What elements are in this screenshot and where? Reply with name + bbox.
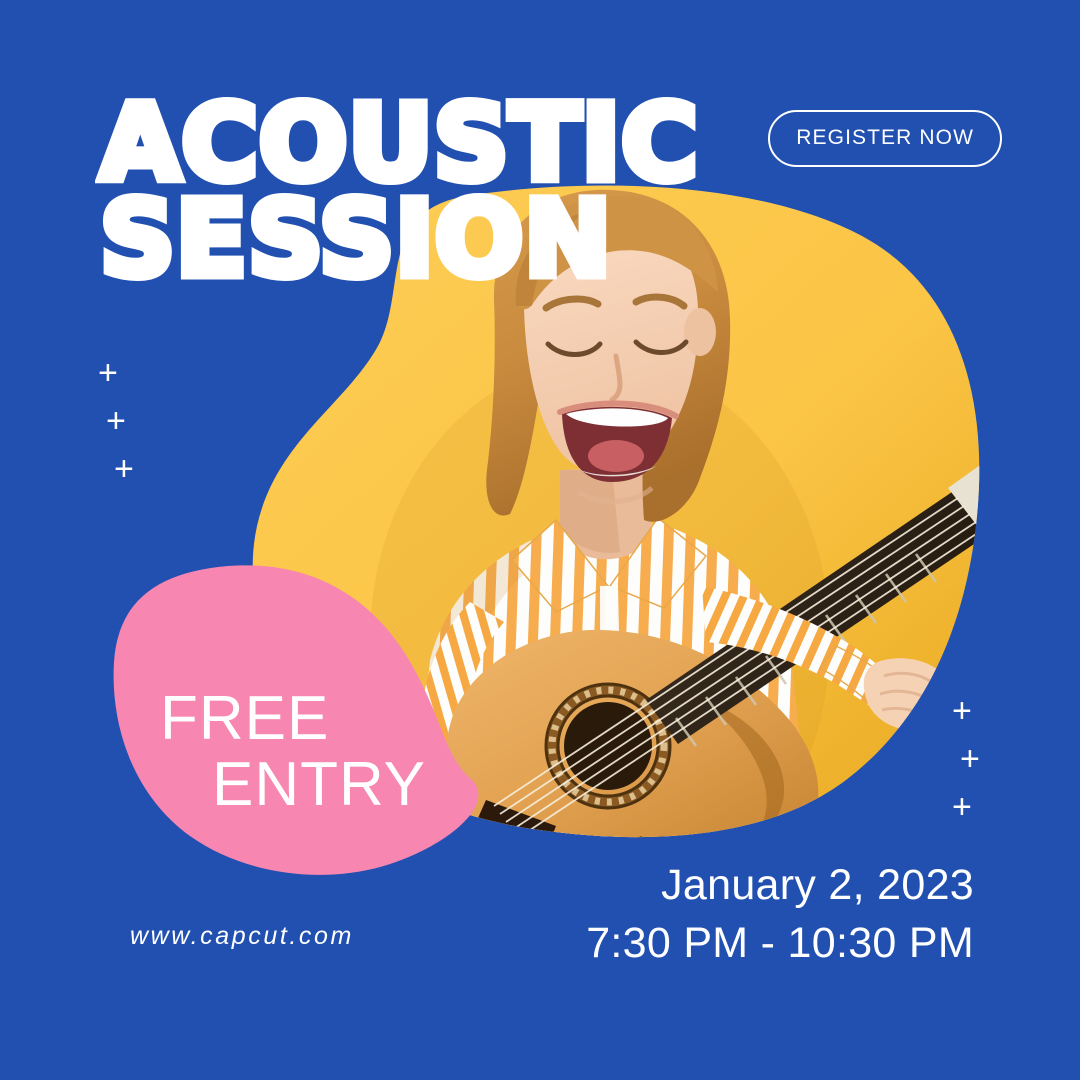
plus-icon: + [106, 404, 126, 438]
plus-decoration-group-right: + + + [940, 694, 1000, 844]
poster-canvas: ACOUSTIC SESSION REGISTER NOW FREE ENTRY… [0, 0, 1080, 1080]
tongue [588, 440, 644, 472]
free-entry-badge: FREE ENTRY [160, 686, 426, 817]
website-url[interactable]: www.capcut.com [130, 922, 354, 951]
plus-icon: + [114, 452, 134, 486]
plus-icon: + [960, 742, 980, 776]
plus-icon: + [952, 790, 972, 824]
register-now-button[interactable]: REGISTER NOW [768, 110, 1002, 167]
plus-decoration-group-left: + + + [96, 356, 156, 506]
title-line-2: SESSION [100, 192, 699, 288]
event-date: January 2, 2023 [586, 856, 974, 914]
plus-icon: + [98, 356, 118, 390]
event-details: January 2, 2023 7:30 PM - 10:30 PM [586, 856, 974, 972]
event-time: 7:30 PM - 10:30 PM [586, 914, 974, 972]
free-entry-line-2: ENTRY [160, 752, 426, 818]
page-title: ACOUSTIC SESSION [100, 96, 699, 287]
free-entry-line-1: FREE [160, 686, 426, 752]
plus-icon: + [952, 694, 972, 728]
ear [684, 308, 716, 356]
